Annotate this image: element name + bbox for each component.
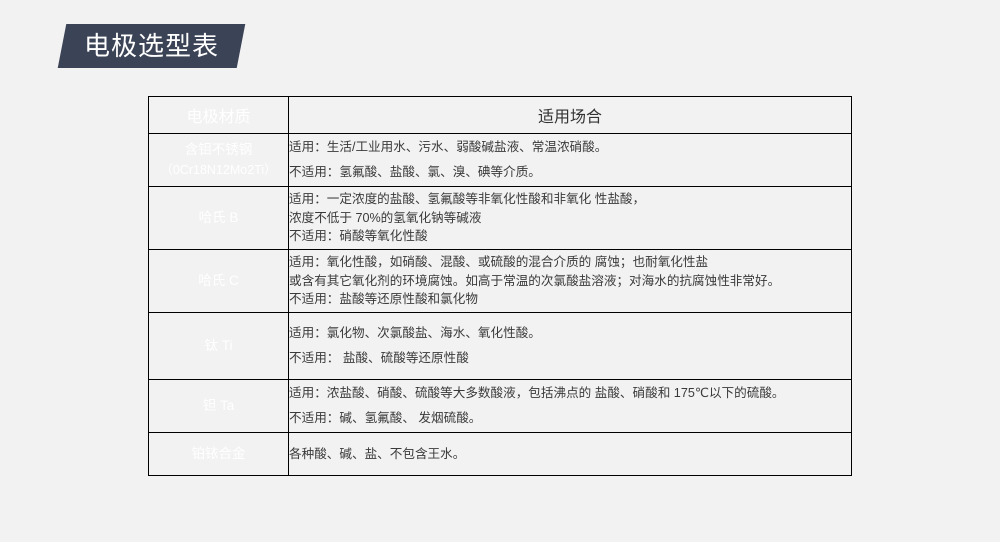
cell-material: 钛 Ti <box>149 313 289 380</box>
table-row: 哈氏 C 适用：氧化性酸，如硝酸、混酸、或硫酸的混合介质的 腐蚀；也耐氧化性盐 … <box>149 250 852 313</box>
table-row: 钽 Ta 适用：浓盐酸、硝酸、硫酸等大多数酸液，包括沸点的 盐酸、硝酸和 175… <box>149 380 852 433</box>
application-line: 适用：一定浓度的盐酸、氢氟酸等非氧化性酸和非氧化 性盐酸， <box>289 190 851 209</box>
application-line: 各种酸、碱、盐、不包含王水。 <box>289 445 851 464</box>
cell-application: 适用：氧化性酸，如硝酸、混酸、或硫酸的混合介质的 腐蚀；也耐氧化性盐 或含有其它… <box>289 250 852 313</box>
page-title: 电极选型表 <box>84 33 219 59</box>
column-header-material: 电极材质 <box>149 97 289 134</box>
cell-material: 铂铱合金 <box>149 433 289 476</box>
table-row: 哈氏 B 适用：一定浓度的盐酸、氢氟酸等非氧化性酸和非氧化 性盐酸， 浓度不低于… <box>149 187 852 250</box>
application-line: 不适用： 盐酸、硫酸等还原性酸 <box>289 349 851 368</box>
application-line: 不适用：碱、氢氟酸、 发烟硫酸。 <box>289 409 851 428</box>
material-code: （0Cr18N12Mo2Ti） <box>149 161 288 180</box>
column-header-application: 适用场合 <box>289 97 852 134</box>
material-name: 铂铱合金 <box>149 444 288 465</box>
cell-application: 适用：一定浓度的盐酸、氢氟酸等非氧化性酸和非氧化 性盐酸， 浓度不低于 70%的… <box>289 187 852 250</box>
cell-application: 适用：生活/工业用水、污水、弱酸碱盐液、常温浓硝酸。 不适用：氢氟酸、盐酸、氯、… <box>289 134 852 187</box>
application-line: 适用：氧化性酸，如硝酸、混酸、或硫酸的混合介质的 腐蚀；也耐氧化性盐 <box>289 253 851 272</box>
cell-material: 哈氏 C <box>149 250 289 313</box>
electrode-selection-table: 电极材质 适用场合 含钼不锈钢 （0Cr18N12Mo2Ti） 适用：生活/工业… <box>148 96 852 476</box>
application-line: 适用：氯化物、次氯酸盐、海水、氧化性酸。 <box>289 324 851 343</box>
application-line: 适用：生活/工业用水、污水、弱酸碱盐液、常温浓硝酸。 <box>289 138 851 157</box>
cell-application: 各种酸、碱、盐、不包含王水。 <box>289 433 852 476</box>
application-line: 不适用：氢氟酸、盐酸、氯、溴、碘等介质。 <box>289 163 851 182</box>
cell-material: 钽 Ta <box>149 380 289 433</box>
table-row: 含钼不锈钢 （0Cr18N12Mo2Ti） 适用：生活/工业用水、污水、弱酸碱盐… <box>149 134 852 187</box>
material-name: 钛 Ti <box>149 336 288 357</box>
application-line: 适用：浓盐酸、硝酸、硫酸等大多数酸液，包括沸点的 盐酸、硝酸和 175℃以下的硫… <box>289 384 851 403</box>
cell-application: 适用：浓盐酸、硝酸、硫酸等大多数酸液，包括沸点的 盐酸、硝酸和 175℃以下的硫… <box>289 380 852 433</box>
material-name: 含钼不锈钢 <box>149 140 288 161</box>
cell-material: 含钼不锈钢 （0Cr18N12Mo2Ti） <box>149 134 289 187</box>
page-title-banner: 电极选型表 <box>58 24 246 68</box>
material-name: 钽 Ta <box>149 396 288 417</box>
application-line: 不适用：硝酸等氧化性酸 <box>289 227 851 246</box>
material-name: 哈氏 C <box>149 271 288 292</box>
table-row: 钛 Ti 适用：氯化物、次氯酸盐、海水、氧化性酸。 不适用： 盐酸、硫酸等还原性… <box>149 313 852 380</box>
application-line: 浓度不低于 70%的氢氧化钠等碱液 <box>289 209 851 228</box>
cell-application: 适用：氯化物、次氯酸盐、海水、氧化性酸。 不适用： 盐酸、硫酸等还原性酸 <box>289 313 852 380</box>
table-row: 铂铱合金 各种酸、碱、盐、不包含王水。 <box>149 433 852 476</box>
cell-material: 哈氏 B <box>149 187 289 250</box>
application-line: 不适用：盐酸等还原性酸和氯化物 <box>289 290 851 309</box>
material-name: 哈氏 B <box>149 208 288 229</box>
table-header-row: 电极材质 适用场合 <box>149 97 852 134</box>
application-line: 或含有其它氧化剂的环境腐蚀。如高于常温的次氯酸盐溶液；对海水的抗腐蚀性非常好。 <box>289 272 851 291</box>
